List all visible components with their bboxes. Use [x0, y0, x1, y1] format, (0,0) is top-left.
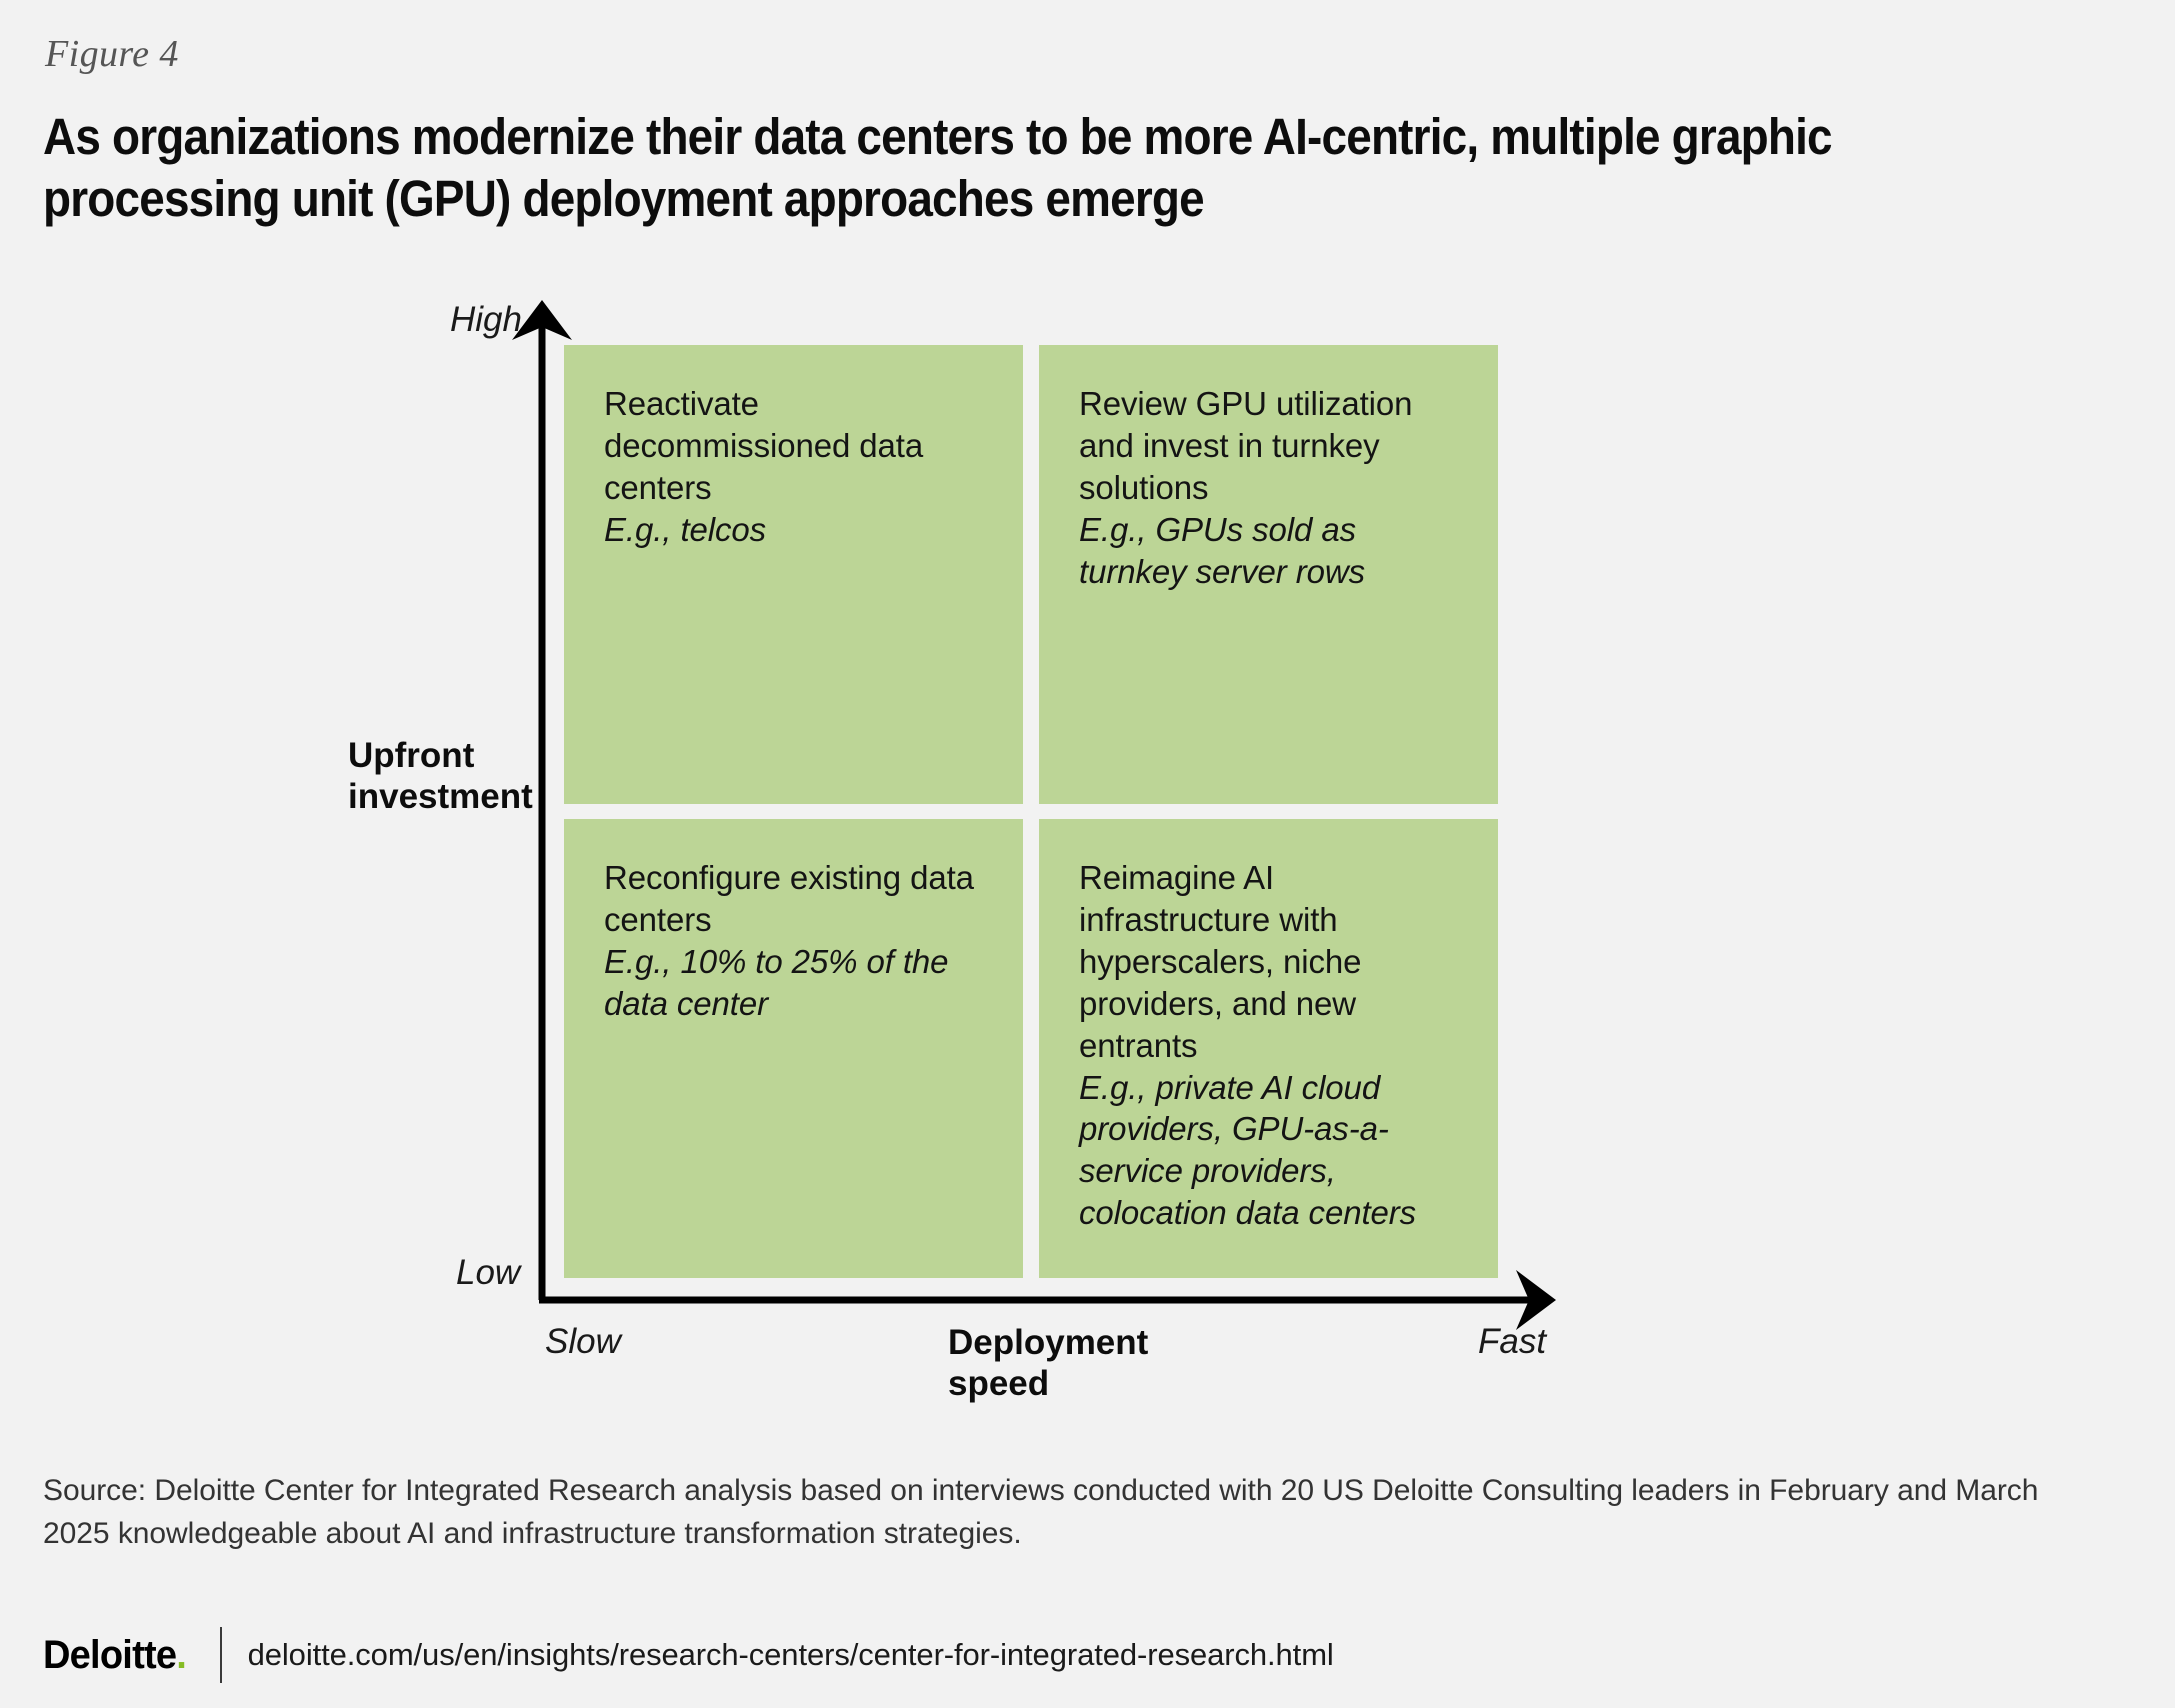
quadrant-top-right-example: E.g., GPUs sold as turnkey server rows: [1079, 509, 1458, 593]
quadrant-bottom-right-title: Reimagine AI infrastructure with hypersc…: [1079, 857, 1458, 1067]
y-axis-high-label: High: [450, 300, 522, 340]
quadrant-top-left: Reactivate decommissioned data centers E…: [564, 345, 1023, 804]
figure-label: Figure 4: [45, 32, 179, 76]
deloitte-wordmark: Deloitte: [43, 1633, 176, 1677]
footer-divider: [220, 1627, 222, 1683]
quadrant-top-left-example: E.g., telcos: [604, 509, 983, 551]
quadrant-top-right-title: Review GPU utilization and invest in tur…: [1079, 383, 1458, 509]
quadrant-top-right: Review GPU utilization and invest in tur…: [1039, 345, 1498, 804]
quadrant-bottom-left: Reconfigure existing data centers E.g., …: [564, 819, 1023, 1278]
quadrant-top-left-title: Reactivate decommissioned data centers: [604, 383, 983, 509]
quadrant-bottom-left-example: E.g., 10% to 25% of the data center: [604, 941, 983, 1025]
quadrant-bottom-left-title: Reconfigure existing data centers: [604, 857, 983, 941]
x-axis-fast-label: Fast: [1478, 1322, 1546, 1362]
y-axis-low-label: Low: [456, 1253, 520, 1293]
quadrant-bottom-right-example: E.g., private AI cloud providers, GPU-as…: [1079, 1067, 1458, 1235]
footer-url[interactable]: deloitte.com/us/en/insights/research-cen…: [248, 1637, 1334, 1673]
y-axis-title: Upfrontinvestment: [348, 735, 533, 818]
source-note: Source: Deloitte Center for Integrated R…: [43, 1470, 2113, 1556]
deloitte-logo: Deloitte.: [43, 1633, 186, 1678]
x-axis-title: Deploymentspeed: [948, 1322, 1148, 1405]
page-title: As organizations modernize their data ce…: [43, 106, 1843, 230]
quadrant-bottom-right: Reimagine AI infrastructure with hypersc…: [1039, 819, 1498, 1278]
deloitte-green-dot: .: [176, 1633, 186, 1677]
footer: Deloitte. deloitte.com/us/en/insights/re…: [0, 1618, 2175, 1692]
x-axis-slow-label: Slow: [545, 1322, 621, 1362]
